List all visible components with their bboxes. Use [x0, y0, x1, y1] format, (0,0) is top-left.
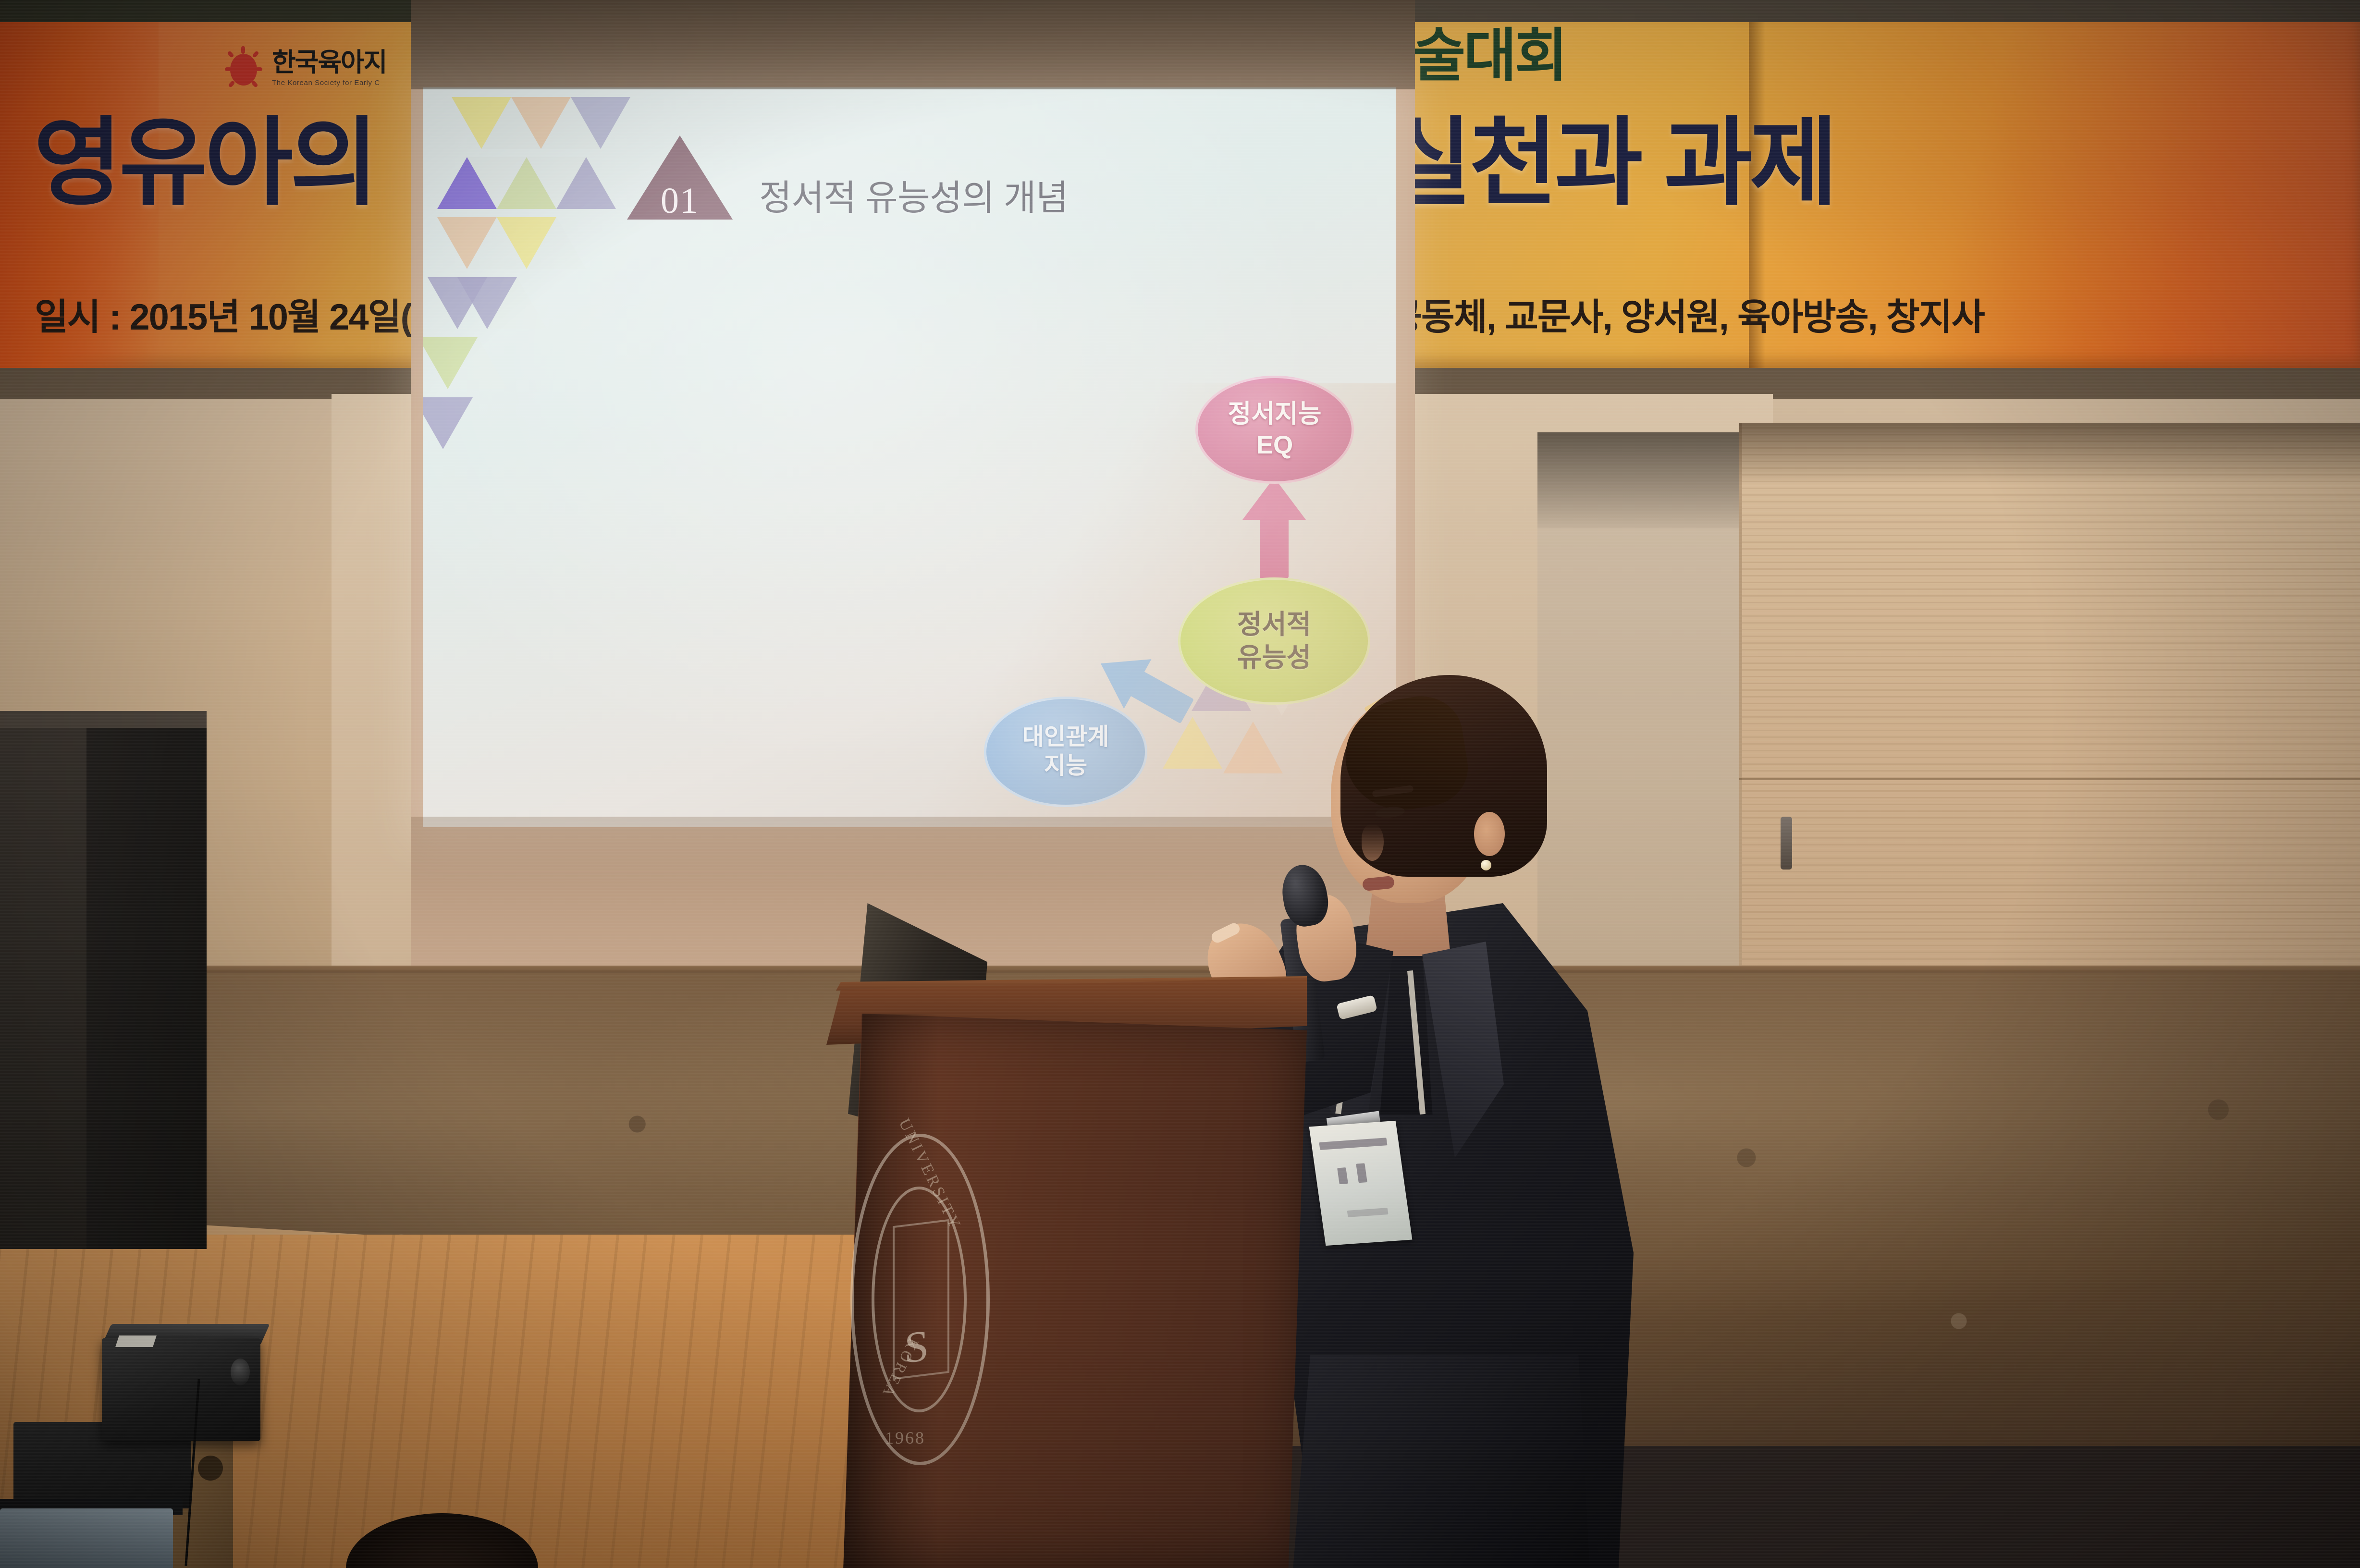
university-emblem-icon: S UNIVERSITY KOREA 1968 — [850, 1134, 990, 1465]
diagram-node-eq-line2: EQ — [1256, 430, 1293, 461]
decor-triangle — [487, 277, 547, 329]
wood-panel-shadow — [1739, 423, 2360, 485]
banner-sponsors: 공동체, 교문사, 양서원, 육아방송, 창지사 — [1389, 287, 1984, 340]
diagram-node-core: 정서적 유능성 — [1178, 577, 1370, 705]
diagram-node-interpersonal: 대인관계 지능 — [984, 697, 1147, 807]
stand-hole — [198, 1456, 223, 1481]
decor-triangle — [571, 97, 630, 149]
screen-top-shadow — [411, 0, 1415, 89]
decor-triangle — [1223, 722, 1283, 773]
banner-title-left: 영유아의 — [34, 115, 376, 211]
left-cabinet-top — [0, 711, 207, 728]
society-name-ko: 한국육아지 — [272, 49, 386, 75]
speaker-trousers — [1292, 1355, 1590, 1568]
dado-trim — [0, 966, 2360, 973]
diagram-node-interpersonal-line1: 대인관계 — [1022, 723, 1109, 752]
banner-title-top-right: 술대회 — [1413, 9, 1566, 92]
slide-number: 01 — [627, 180, 733, 222]
presentation-photo-scene: 한국육아지 The Korean Society for Early C 술대회… — [0, 0, 2360, 1568]
decor-triangle — [527, 217, 586, 269]
wood-panel-seam — [1739, 778, 2360, 780]
decor-triangle — [423, 397, 473, 449]
speaker-earring — [1481, 860, 1491, 870]
diagram-node-eq-line1: 정서지능 — [1228, 399, 1321, 430]
diagram-node-interpersonal-line2: 지능 — [1044, 752, 1087, 781]
sun-icon — [226, 46, 261, 90]
diagram-node-core-line1: 정서적 — [1237, 608, 1312, 641]
slide-section-title: 정서적 유능성의 개념 — [759, 169, 1068, 220]
banner-title-right: 실천과 과제 — [1384, 115, 1835, 211]
alcove-shadow — [1537, 432, 1744, 528]
av-equipment-box — [102, 1338, 260, 1441]
society-name-en: The Korean Society for Early C — [272, 79, 386, 87]
av-box-label — [115, 1335, 157, 1347]
diagram-node-core-line2: 유능성 — [1237, 641, 1312, 674]
av-box-knob[interactable] — [231, 1359, 250, 1385]
decor-triangle — [556, 157, 616, 209]
name-badge — [1309, 1121, 1413, 1246]
emblem-year: 1968 — [885, 1428, 925, 1448]
decor-triangle — [448, 337, 507, 389]
left-cabinet-face — [0, 711, 86, 1249]
sliding-door-handle[interactable] — [1781, 817, 1792, 870]
stage-monitor — [0, 1508, 173, 1568]
speaker-ear — [1474, 812, 1505, 856]
arrow-core-to-eq-icon — [1242, 478, 1306, 578]
projection-screen: 01 정서적 유능성의 개념 정서지능 EQ 정서적 유능성 대인관계 지능 개… — [423, 87, 1396, 827]
diagram-node-eq: 정서지능 EQ — [1195, 376, 1354, 484]
society-logo: 한국육아지 The Korean Society for Early C — [226, 46, 386, 90]
